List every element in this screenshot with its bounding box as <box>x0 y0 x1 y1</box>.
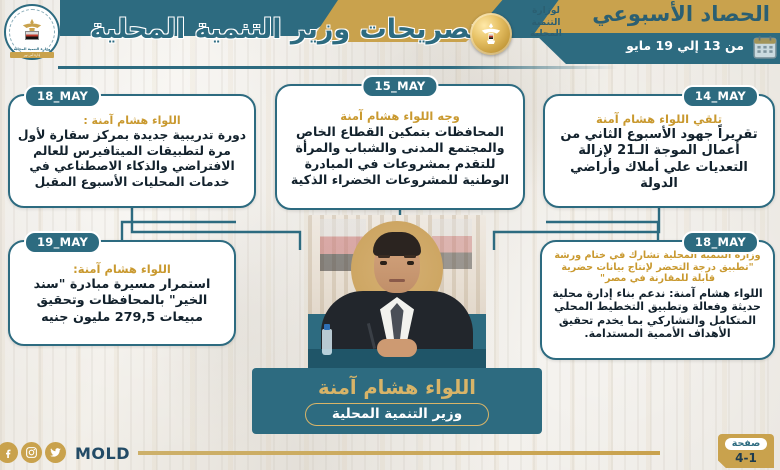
minister-role: وزير التنمية المحلية <box>332 406 462 422</box>
card-body-text: المحافظات بتمكين القطاع الخاص والمجتمع ا… <box>284 124 516 188</box>
water-bottle <box>322 329 332 355</box>
logo-subcaption: إدارة أمن نهر <box>10 52 54 58</box>
card-lead-text: اللواء هشام آمنة: <box>17 262 227 276</box>
statement-card-14may-encroachment[interactable]: 14_MAY تلقي اللواء هشام آمنة تقريراً جهو… <box>543 94 775 208</box>
brand-mold: MOLD <box>75 444 130 463</box>
minister-name: اللواء هشام آمنة <box>318 376 476 399</box>
twitter-icon[interactable] <box>45 442 66 463</box>
minister-role-pill: وزير التنمية المحلية <box>305 403 489 426</box>
harvest-date-range: من 13 إلي 19 مايو <box>626 38 744 53</box>
card-body-text: تقريراً جهود الأسبوع الثاني من أعمال الم… <box>552 127 766 193</box>
photo-eye-right <box>407 261 414 265</box>
date-badge: 15_MAY <box>361 75 438 98</box>
date-badge: 18_MAY <box>24 85 101 108</box>
card-body-text: اللواء هشام آمنة: ندعم بناء إدارة محلية … <box>549 287 766 341</box>
footer-divider <box>138 451 660 455</box>
instagram-icon[interactable] <box>21 442 42 463</box>
statement-card-18may-training[interactable]: 18_MAY اللواء هشام آمنة : دورة تدريبية ج… <box>8 94 256 208</box>
egypt-eagle-emblem-icon <box>470 13 512 55</box>
photo-brow-right <box>404 255 416 258</box>
date-badge: 19_MAY <box>24 231 101 254</box>
logo-caption: وزارة التنمية المحلية <box>4 47 60 51</box>
weekly-harvest-ribbon: الحصاد الأسبوعي من 13 إلي 19 مايو لوزارة… <box>534 0 780 64</box>
ministry-logo: وزارة التنمية المحلية إدارة أمن نهر <box>4 4 60 60</box>
photo-hair <box>373 232 421 256</box>
card-body-text: استمرار مسيرة مبادرة "سند الخير" بالمحاف… <box>17 277 227 327</box>
facebook-icon[interactable] <box>0 442 18 463</box>
card-body-text: دورة تدريبية جديدة بمركز سقارة لأول مرة … <box>17 128 247 190</box>
statement-card-19may-sanad-alkhair[interactable]: 19_MAY اللواء هشام آمنة: استمرار مسيرة م… <box>8 240 236 346</box>
photo-hands <box>377 339 417 357</box>
header-underline <box>58 66 618 69</box>
ministry-subtitle: لوزارة التنمية المحلية <box>518 6 574 41</box>
statement-card-15may-green-projects[interactable]: 15_MAY وجه اللواء هشام آمنة المحافظات بت… <box>275 84 525 210</box>
card-lead-text: اللواء هشام آمنة : <box>17 114 247 127</box>
coin-eagle-glyph <box>481 22 501 46</box>
logo-flag <box>25 31 39 40</box>
card-lead-text: وزارة التنمية المحلية تشارك في ختام ورشة… <box>549 250 766 285</box>
page-badge: صفحة 4-1 <box>718 434 774 468</box>
photo-mouth <box>389 279 405 282</box>
card-lead-text: وجه اللواء هشام آمنة <box>284 109 516 123</box>
page-label: صفحة <box>725 438 768 450</box>
photo-eye-left <box>380 261 387 265</box>
calendar-icon <box>752 34 778 60</box>
page-title: تصريحات وزير التنمية المحلية <box>90 14 480 45</box>
minister-nameplate: اللواء هشام آمنة وزير التنمية المحلية <box>252 368 542 434</box>
photo-brow-left <box>378 255 390 258</box>
page-footer: MOLD صفحة 4-1 <box>0 436 780 470</box>
infographic-canvas: وزارة التنمية المحلية إدارة أمن نهر تصري… <box>0 0 780 470</box>
date-badge: 14_MAY <box>682 85 759 108</box>
card-lead-text: تلقي اللواء هشام آمنة <box>552 112 766 126</box>
date-badge: 18_MAY <box>682 231 759 254</box>
page-number: 4-1 <box>735 451 757 465</box>
statement-card-18may-urbanization-workshop[interactable]: 18_MAY وزارة التنمية المحلية تشارك في خت… <box>540 240 775 360</box>
minister-photo <box>308 215 486 375</box>
harvest-title: الحصاد الأسبوعي <box>592 2 770 26</box>
